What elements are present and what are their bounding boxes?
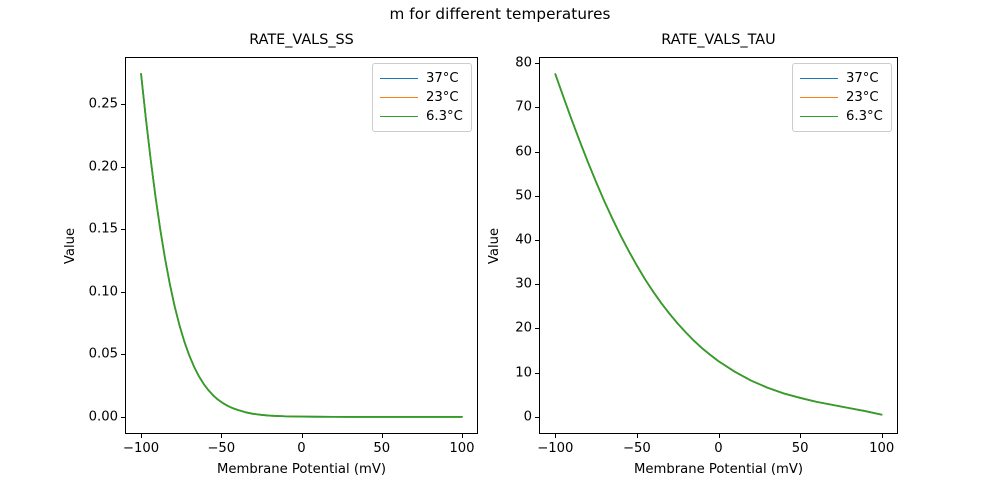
legend-line-swatch-6.3°C [380, 116, 418, 117]
figure-suptitle: m for different temperatures [0, 5, 1000, 23]
legend-entry[interactable]: 37°C [800, 69, 884, 88]
x-tick-label: 0 [714, 441, 722, 456]
y-tick-label: 30 [497, 277, 532, 292]
x-tick-mark [555, 434, 556, 438]
x-tick-mark [382, 434, 383, 438]
y-tick-label: 10 [497, 365, 532, 380]
legend-entry[interactable]: 23°C [380, 88, 464, 107]
y-tick-mark [121, 354, 125, 355]
legend-line-swatch-23°C [380, 97, 418, 98]
legend-label: 23°C [426, 91, 459, 104]
legend-line-swatch-37°C [380, 78, 418, 79]
y-tick-mark [535, 284, 539, 285]
y-tick-mark [535, 196, 539, 197]
x-tick-label: 50 [792, 441, 809, 456]
y-tick-mark [535, 373, 539, 374]
y-tick-label: 0.00 [83, 409, 118, 424]
y-tick-mark [535, 328, 539, 329]
y-tick-mark [535, 240, 539, 241]
y-tick-mark [121, 229, 125, 230]
x-tick-mark [302, 434, 303, 438]
y-tick-label: 60 [497, 144, 532, 159]
y-tick-label: 50 [497, 188, 532, 203]
x-tick-mark [882, 434, 883, 438]
y-tick-mark [121, 167, 125, 168]
legend-line-swatch-6.3°C [800, 116, 838, 117]
y-tick-mark [121, 292, 125, 293]
y-tick-mark [535, 63, 539, 64]
x-axis-label-left: Membrane Potential (mV) [125, 462, 478, 477]
x-tick-label: −50 [207, 441, 235, 456]
y-tick-mark [121, 104, 125, 105]
y-tick-label: 0.25 [83, 97, 118, 112]
x-axis-label-right: Membrane Potential (mV) [539, 462, 898, 477]
legend-label: 37°C [426, 72, 459, 85]
y-axis-label-left: Value [63, 227, 78, 263]
legend-left[interactable]: 37°C23°C6.3°C [372, 63, 472, 132]
legend-label: 6.3°C [846, 110, 883, 123]
x-tick-label: −100 [537, 441, 573, 456]
y-tick-label: 0.05 [83, 347, 118, 362]
y-tick-mark [121, 417, 125, 418]
legend-right[interactable]: 37°C23°C6.3°C [792, 63, 892, 132]
y-tick-label: 20 [497, 321, 532, 336]
x-tick-label: 0 [297, 441, 305, 456]
x-tick-label: 100 [869, 441, 894, 456]
legend-line-swatch-37°C [800, 78, 838, 79]
y-tick-label: 0.20 [83, 159, 118, 174]
legend-label: 23°C [846, 91, 879, 104]
x-tick-label: 100 [449, 441, 474, 456]
y-tick-label: 0.15 [83, 222, 118, 237]
legend-entry[interactable]: 6.3°C [380, 107, 464, 126]
y-tick-label: 80 [497, 56, 532, 71]
x-tick-mark [637, 434, 638, 438]
y-tick-label: 70 [497, 100, 532, 115]
y-axis-label-right: Value [487, 227, 502, 263]
y-tick-mark [535, 152, 539, 153]
x-tick-label: 50 [373, 441, 390, 456]
matplotlib-figure: m for different temperatures RATE_VALS_S… [0, 0, 1000, 500]
x-tick-mark [141, 434, 142, 438]
subplot-title-left: RATE_VALS_SS [125, 32, 478, 48]
x-tick-label: −100 [123, 441, 159, 456]
legend-line-swatch-23°C [800, 97, 838, 98]
legend-entry[interactable]: 37°C [380, 69, 464, 88]
legend-entry[interactable]: 6.3°C [800, 107, 884, 126]
x-tick-mark [800, 434, 801, 438]
subplot-title-right: RATE_VALS_TAU [539, 32, 898, 48]
y-tick-mark [535, 107, 539, 108]
legend-label: 37°C [846, 72, 879, 85]
x-tick-label: −50 [623, 441, 651, 456]
y-tick-label: 40 [497, 232, 532, 247]
y-tick-mark [535, 417, 539, 418]
x-tick-mark [719, 434, 720, 438]
y-tick-label: 0 [497, 409, 532, 424]
x-tick-mark [462, 434, 463, 438]
x-tick-mark [221, 434, 222, 438]
legend-label: 6.3°C [426, 110, 463, 123]
y-tick-label: 0.10 [83, 284, 118, 299]
legend-entry[interactable]: 23°C [800, 88, 884, 107]
